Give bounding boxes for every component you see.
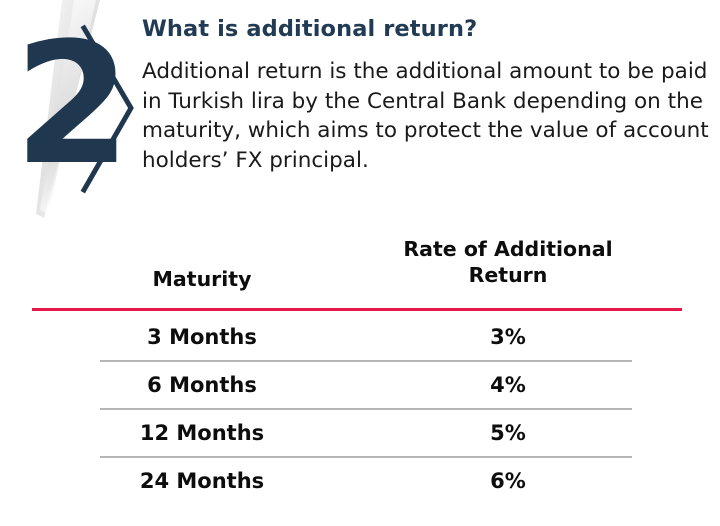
cell-rate: 6%: [378, 468, 638, 495]
step-number-badge: 2: [0, 0, 140, 225]
table-body: 3 Months 3% 6 Months 4% 12 Months 5% 24 …: [32, 314, 682, 506]
column-header-rate: Rate of Additional Return: [378, 236, 638, 288]
table-header-row: Maturity Rate of Additional Return: [32, 228, 682, 310]
cell-maturity: 6 Months: [102, 372, 302, 399]
table-row: 6 Months 4%: [32, 362, 682, 410]
cell-rate: 4%: [378, 372, 638, 399]
rates-table: Maturity Rate of Additional Return 3 Mon…: [32, 228, 682, 310]
table-row: 24 Months 6%: [32, 458, 682, 506]
cell-maturity: 12 Months: [102, 420, 302, 447]
cell-maturity: 3 Months: [102, 324, 302, 351]
step-number-label: 2: [14, 24, 110, 184]
body-paragraph: Additional return is the additional amou…: [142, 57, 714, 175]
cell-maturity: 24 Months: [102, 468, 302, 495]
cell-rate: 5%: [378, 420, 638, 447]
column-header-maturity: Maturity: [102, 266, 302, 292]
accent-divider: [32, 308, 682, 311]
cell-rate: 3%: [378, 324, 638, 351]
table-row: 12 Months 5%: [32, 410, 682, 458]
page-title: What is additional return?: [142, 16, 702, 42]
infographic-slide: 2 What is additional return? Additional …: [0, 0, 720, 526]
table-row: 3 Months 3%: [32, 314, 682, 362]
